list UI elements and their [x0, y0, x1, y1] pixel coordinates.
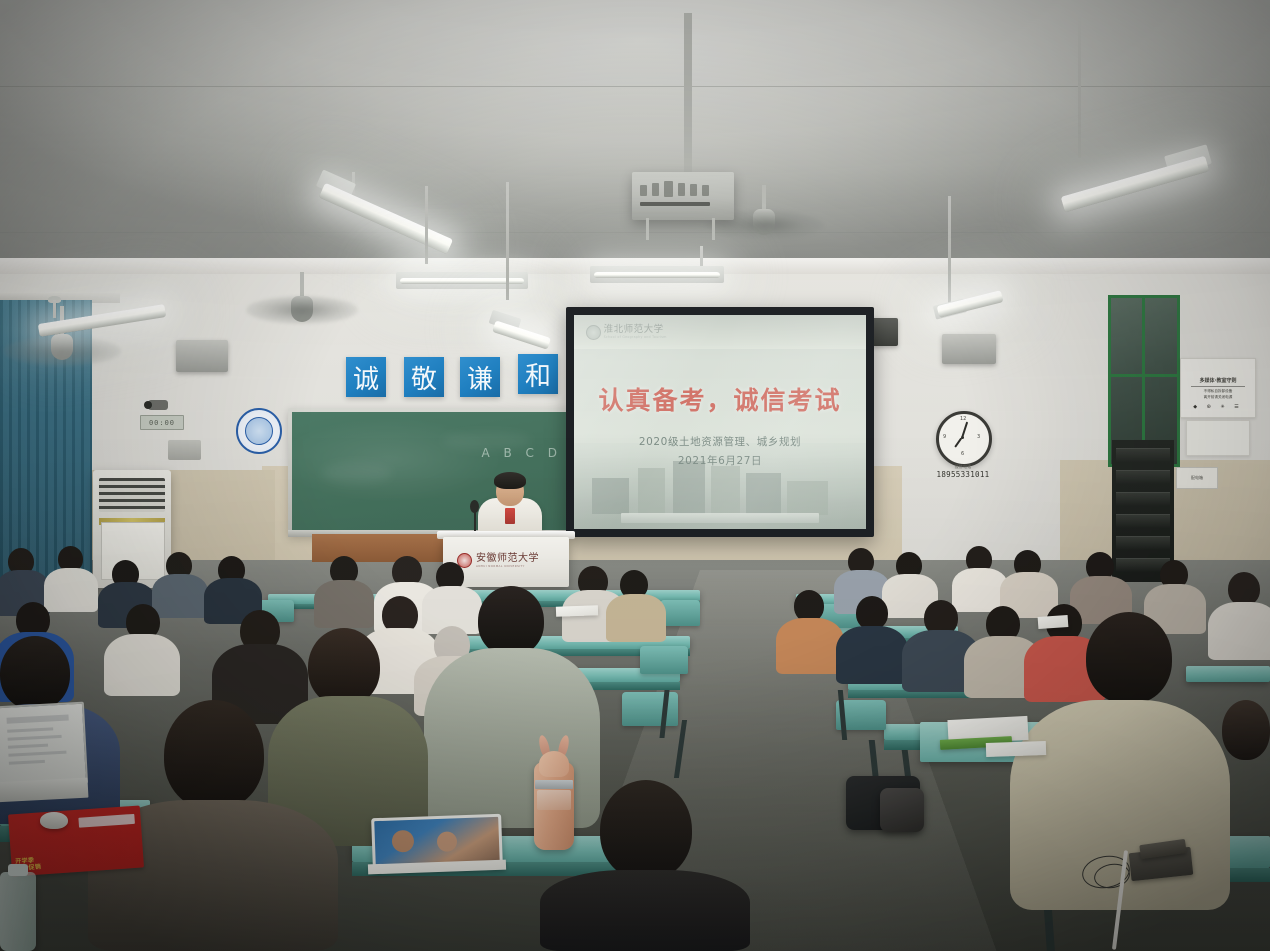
laptop-ui-line	[9, 760, 45, 765]
slide-building	[746, 473, 781, 514]
university-emblem	[236, 408, 282, 454]
doorway-dark[interactable]	[1112, 440, 1174, 582]
projector-vent	[702, 185, 709, 196]
slide-institution-logo: 淮北师范大学 School of Geography and Tourism	[586, 325, 667, 340]
wall-clock: 12 3 6 9	[936, 411, 992, 467]
clock-face: 12 3 6 9	[939, 414, 989, 464]
ceiling-fan-blades	[3, 336, 121, 366]
electrical-panel-plate: 配电箱	[1176, 467, 1218, 489]
projector-bracket	[712, 218, 715, 240]
university-seal-icon	[586, 325, 601, 340]
slide-plaza	[621, 513, 820, 523]
projector-lens	[664, 181, 673, 197]
laptop-screen[interactable]	[0, 702, 88, 789]
poster-heading: 多媒体·教室守则	[1181, 377, 1255, 384]
photo-face	[392, 830, 415, 853]
service-phone-number: 18955331011	[928, 470, 998, 479]
digital-display-value: 00:00	[149, 419, 175, 427]
chair-back	[622, 692, 678, 726]
projection-screen: 淮北师范大学 School of Geography and Tourism 认…	[566, 307, 874, 537]
computer-mouse[interactable]	[40, 812, 68, 829]
mousepad: 开学季 特惠促销	[8, 805, 144, 876]
plaque-char: 敬	[411, 359, 437, 396]
water-bottle-clear[interactable]	[0, 872, 36, 951]
wall-vent-grille	[168, 440, 201, 460]
light-rod	[948, 196, 951, 308]
classroom-photo: 多媒体·教室守则 不得私自拆卸设备 离开前请关闭电源 ◆ ⊛ ✳ ☰ 配电箱	[0, 0, 1270, 951]
exam-paper	[986, 741, 1046, 757]
photo-face	[437, 831, 458, 852]
emblem-inner	[245, 417, 273, 445]
laptop-ui-line	[8, 735, 62, 741]
laptop-ui-bar	[7, 715, 69, 724]
bag-floor	[880, 788, 924, 832]
laptop-ui-line	[7, 727, 53, 732]
wall-plaque-3: 谦	[460, 357, 500, 397]
projector	[632, 172, 734, 220]
ceiling-seam	[0, 232, 1270, 233]
wall-plaque-1: 诚	[346, 357, 386, 397]
projector-vent	[640, 185, 647, 196]
podium-branding: 安徽师范大学 ANHUI NORMAL UNIVERSITY	[457, 553, 539, 568]
mousepad-stripe	[78, 814, 135, 828]
poster-body-line2: 离开前请关闭电源	[1181, 395, 1255, 400]
slide-title: 认真备考，诚信考试	[574, 381, 866, 417]
poster-body-line1: 不得私自拆卸设备	[1181, 389, 1255, 394]
digital-display: 00:00	[140, 415, 184, 430]
chair-back	[640, 646, 688, 674]
blackboard-chalk-text: A B C D	[481, 446, 562, 460]
poster-icons: ◆ ⊛ ✳ ☰	[1181, 404, 1255, 410]
plate-text: 配电箱	[1191, 475, 1203, 481]
wall-plaque-2: 敬	[404, 357, 444, 397]
light-rod	[700, 246, 703, 266]
locker-shelf	[1116, 536, 1170, 550]
bottle-metal-band	[535, 780, 573, 789]
wall-speaker-right	[872, 318, 898, 346]
slide-building	[787, 481, 828, 515]
laptop-ui-line	[8, 744, 48, 749]
exam-paper	[1038, 615, 1069, 629]
projector-mount-pole	[684, 13, 692, 175]
light-rod	[53, 300, 56, 318]
slide-institution-name-en: School of Geography and Tourism	[604, 335, 667, 339]
poster-divider	[1191, 386, 1245, 387]
wall-speaker-left	[176, 340, 228, 372]
ceiling-fan-blades	[246, 296, 358, 324]
light-rod	[1078, 16, 1081, 158]
slide-building	[592, 478, 630, 514]
bottle-cap-clear	[8, 864, 28, 876]
wall-poster-secondary	[1186, 420, 1250, 456]
locker-shelf	[1116, 514, 1170, 528]
security-camera	[148, 400, 168, 410]
wall-poster-rules: 多媒体·教室守则 不得私自拆卸设备 离开前请关闭电源 ◆ ⊛ ✳ ☰	[1180, 358, 1256, 418]
clock-tick-9: 9	[943, 434, 946, 440]
microphone-head	[470, 500, 479, 513]
projector-slot	[640, 202, 710, 206]
chair-back	[660, 600, 700, 626]
slide-building	[673, 461, 705, 514]
ceiling-fan-rod	[762, 185, 766, 211]
slide-subtitle-class: 2020级土地资源管理、城乡规划	[574, 434, 866, 449]
clock-tick-6: 6	[961, 451, 964, 457]
locker-shelf	[1116, 492, 1170, 506]
laptop-ui-line	[8, 751, 66, 757]
plaque-char: 谦	[467, 359, 493, 396]
locker-shelf	[1116, 470, 1170, 484]
camera-lens-icon	[144, 401, 152, 409]
projector-bracket	[646, 218, 649, 240]
ac-vent-louvers	[99, 478, 165, 512]
slide-building	[711, 466, 740, 516]
clock-center-pin	[961, 436, 964, 439]
fluorescent-light[interactable]	[594, 272, 720, 278]
podium-institution-name-en: ANHUI NORMAL UNIVERSITY	[476, 564, 539, 568]
wall-plaque-4: 和	[518, 354, 558, 394]
slide-surface: 淮北师范大学 School of Geography and Tourism 认…	[574, 315, 866, 529]
bottle-cap	[539, 751, 569, 777]
chalk-smudge	[322, 462, 392, 484]
wall-speaker-right-2	[942, 334, 996, 364]
projector-vent	[678, 183, 685, 196]
clock-tick-3: 3	[977, 434, 980, 440]
exam-paper	[556, 605, 598, 616]
slide-institution-name: 淮北师范大学	[604, 325, 667, 335]
projector-vent	[652, 183, 659, 196]
light-rod	[425, 186, 428, 264]
lecturer-hair	[494, 472, 526, 489]
slide-subtitle-date: 2021年6月27日	[574, 453, 866, 468]
bottle-label	[537, 790, 571, 810]
projector-vent	[690, 184, 697, 196]
lecturer-collar-accent	[505, 508, 515, 524]
plaque-char: 诚	[353, 359, 379, 396]
ceiling-fan-rod	[300, 272, 304, 298]
plaque-char: 和	[525, 356, 551, 393]
slide-building	[638, 468, 664, 515]
podium-institution-name: 安徽师范大学	[476, 554, 539, 564]
desk-row	[1186, 666, 1270, 682]
water-bottle-rabbit[interactable]	[534, 735, 574, 850]
locker-shelf	[1116, 448, 1170, 462]
light-rod	[506, 182, 509, 300]
